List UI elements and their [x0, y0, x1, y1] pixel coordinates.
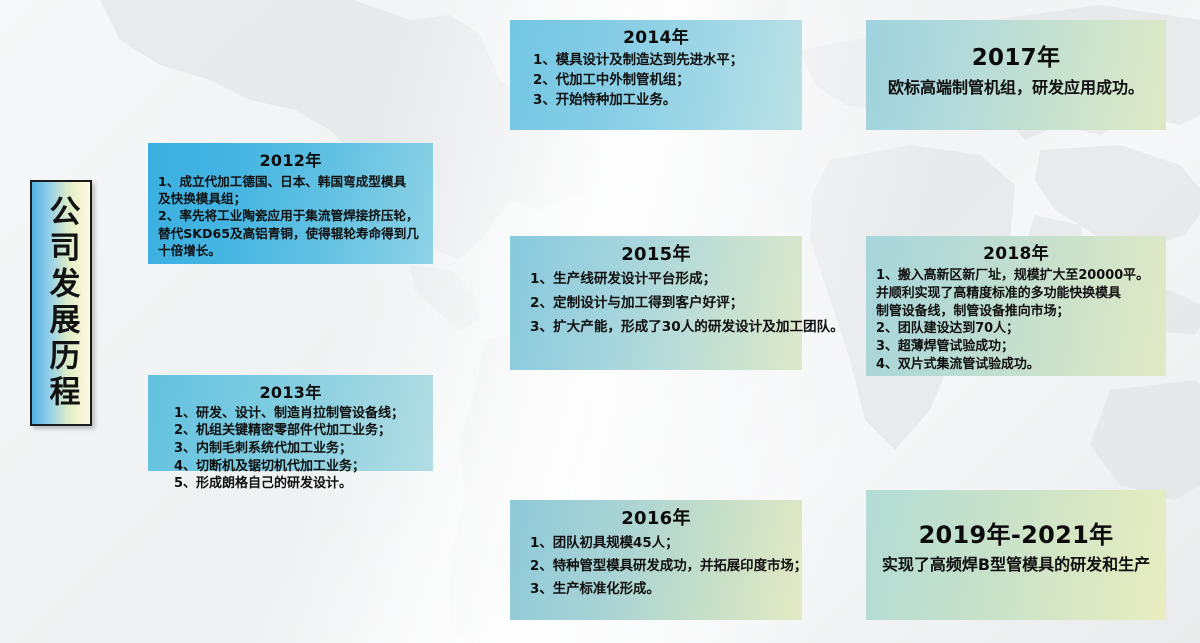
- timeline-card-2017: 2017年 欧标高端制管机组，研发应用成功。: [866, 20, 1166, 130]
- timeline-card-2013: 2013年 1、研发、设计、制造肖拉制管设备线； 2、机组关键精密零部件代加工业…: [148, 375, 433, 471]
- timeline-card-2014: 2014年 1、模具设计及制造达到先进水平； 2、代加工中外制管机组； 3、开始…: [510, 20, 802, 130]
- card-line: 及快换模具组；: [158, 190, 423, 207]
- card-body: 欧标高端制管机组，研发应用成功。: [876, 75, 1156, 101]
- card-line: 并顺利实现了高精度标准的多功能快换模具: [876, 285, 1156, 303]
- timeline-card-2019: 2019年-2021年 实现了高频焊B型管模具的研发和生产: [866, 490, 1166, 620]
- card-line: 1、模具设计及制造达到先进水平；: [533, 51, 792, 71]
- card-line: 1、生产线研发设计平台形成；: [530, 268, 792, 292]
- page-title-plate: 公司发展历程: [30, 180, 92, 426]
- card-year-label: 2018年: [876, 243, 1156, 266]
- card-year-label: 2012年: [158, 150, 423, 172]
- slide-canvas: 公司发展历程 2012年 1、成立代加工德国、日本、韩国弯成型模具 及快换模具组…: [0, 0, 1200, 643]
- card-body: 实现了高频焊B型管模具的研发和生产: [876, 552, 1156, 578]
- card-line: 欧标高端制管机组，研发应用成功。: [876, 75, 1156, 101]
- card-line: 4、双片式集流管试验成功。: [876, 356, 1156, 374]
- page-title: 公司发展历程: [46, 195, 77, 411]
- card-line: 3、生产标准化形成。: [530, 578, 792, 601]
- card-line: 1、成立代加工德国、日本、韩国弯成型模具: [158, 173, 423, 190]
- card-body: 1、模具设计及制造达到先进水平； 2、代加工中外制管机组； 3、开始特种加工业务…: [520, 51, 792, 111]
- card-body: 1、生产线研发设计平台形成； 2、定制设计与加工得到客户好评； 3、扩大产能，形…: [520, 268, 792, 339]
- card-line: 替代SKD65及高铝青铜，使得辊轮寿命得到几: [158, 225, 423, 242]
- card-body: 1、成立代加工德国、日本、韩国弯成型模具 及快换模具组； 2、率先将工业陶瓷应用…: [158, 173, 423, 260]
- card-body: 1、搬入高新区新厂址，规模扩大至20000平。 并顺利实现了高精度标准的多功能快…: [876, 267, 1156, 374]
- card-year-label: 2017年: [876, 43, 1156, 74]
- card-year-label: 2013年: [158, 382, 423, 404]
- timeline-card-2012: 2012年 1、成立代加工德国、日本、韩国弯成型模具 及快换模具组； 2、率先将…: [148, 143, 433, 264]
- card-line: 3、扩大产能，形成了30人的研发设计及加工团队。: [530, 316, 792, 340]
- card-line: 2、特种管型模具研发成功，并拓展印度市场；: [530, 555, 792, 578]
- card-year-label: 2019年-2021年: [876, 519, 1156, 551]
- card-line: 1、研发、设计、制造肖拉制管设备线；: [174, 405, 423, 423]
- card-line: 1、搬入高新区新厂址，规模扩大至20000平。: [876, 267, 1156, 285]
- card-line: 1、团队初具规模45人；: [530, 532, 792, 555]
- card-line: 2、团队建设达到70人；: [876, 320, 1156, 338]
- card-line: 制管设备线，制管设备推向市场；: [876, 303, 1156, 321]
- card-line: 2、定制设计与加工得到客户好评；: [530, 292, 792, 316]
- card-line: 2、机组关键精密零部件代加工业务；: [174, 422, 423, 440]
- card-body: 1、研发、设计、制造肖拉制管设备线； 2、机组关键精密零部件代加工业务； 3、内…: [158, 405, 423, 493]
- card-line: 3、内制毛刺系统代加工业务；: [174, 440, 423, 458]
- card-line: 十倍增长。: [158, 242, 423, 259]
- card-line: 实现了高频焊B型管模具的研发和生产: [876, 552, 1156, 578]
- card-year-label: 2016年: [520, 507, 792, 531]
- card-line: 4、切断机及锯切机代加工业务；: [174, 458, 423, 476]
- timeline-card-2015: 2015年 1、生产线研发设计平台形成； 2、定制设计与加工得到客户好评； 3、…: [510, 236, 802, 370]
- card-year-label: 2014年: [520, 27, 792, 50]
- card-year-label: 2015年: [520, 243, 792, 267]
- card-line: 3、超薄焊管试验成功；: [876, 338, 1156, 356]
- timeline-card-2018: 2018年 1、搬入高新区新厂址，规模扩大至20000平。 并顺利实现了高精度标…: [866, 236, 1166, 376]
- card-body: 1、团队初具规模45人； 2、特种管型模具研发成功，并拓展印度市场； 3、生产标…: [520, 532, 792, 601]
- card-line: 2、代加工中外制管机组；: [533, 71, 792, 91]
- card-line: 3、开始特种加工业务。: [533, 91, 792, 111]
- card-line: 5、形成朗格自己的研发设计。: [174, 475, 423, 493]
- card-line: 2、率先将工业陶瓷应用于集流管焊接挤压轮，: [158, 207, 423, 224]
- timeline-card-2016: 2016年 1、团队初具规模45人； 2、特种管型模具研发成功，并拓展印度市场；…: [510, 500, 802, 620]
